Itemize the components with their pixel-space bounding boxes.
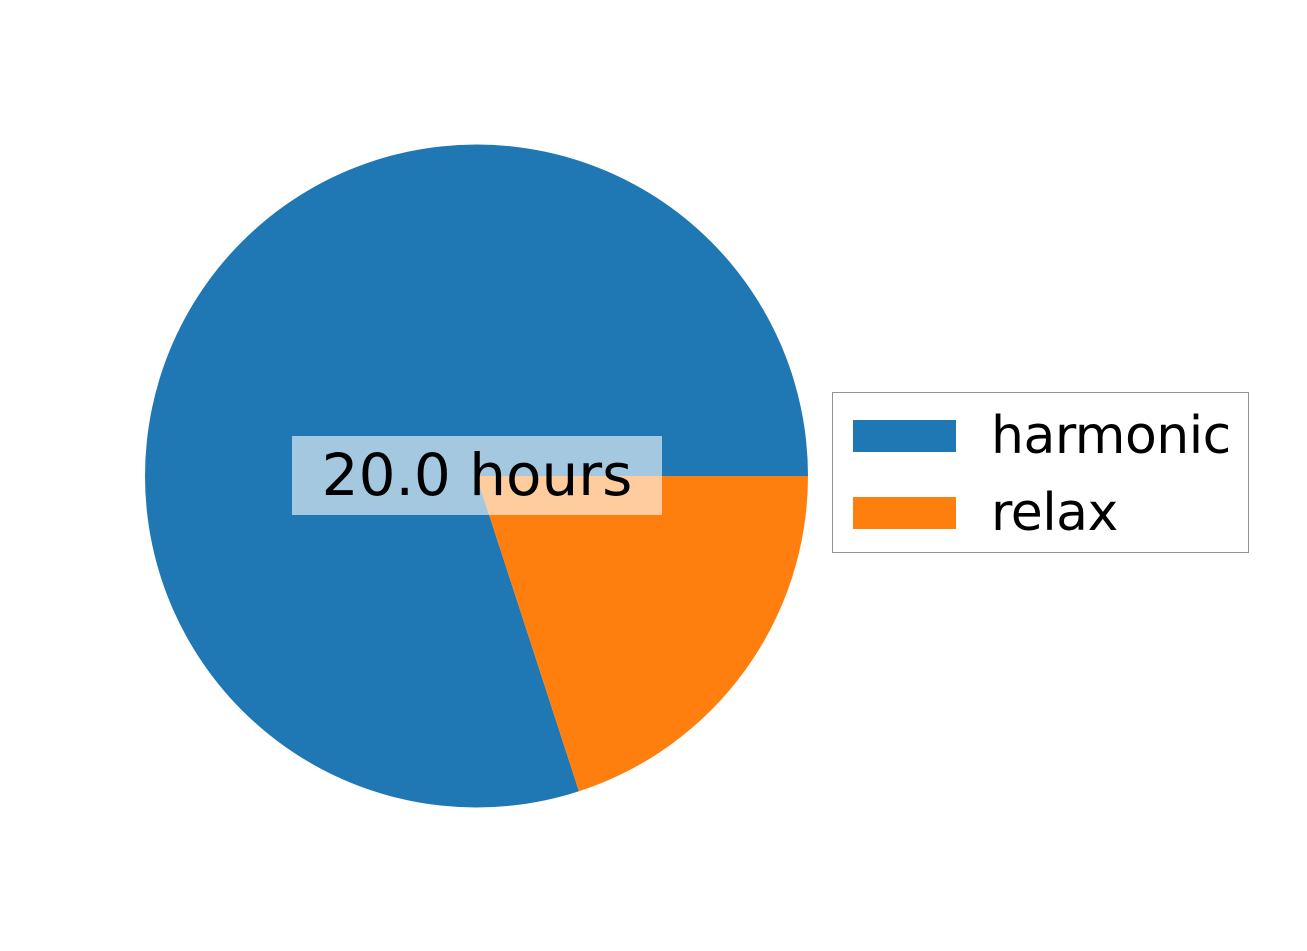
legend-swatch-relax [853,497,956,529]
legend-entry-harmonic[interactable]: harmonic [833,416,1248,456]
chart-legend: harmonic relax [832,392,1249,553]
pie-slice-value-label: 20.0 hours [292,436,662,515]
legend-entry-relax[interactable]: relax [833,493,1248,533]
legend-label-relax: relax [991,483,1118,543]
pie-chart-figure: 20.0 hours harmonic relax [0,0,1307,951]
legend-label-harmonic: harmonic [991,406,1231,466]
legend-swatch-harmonic [853,420,956,452]
